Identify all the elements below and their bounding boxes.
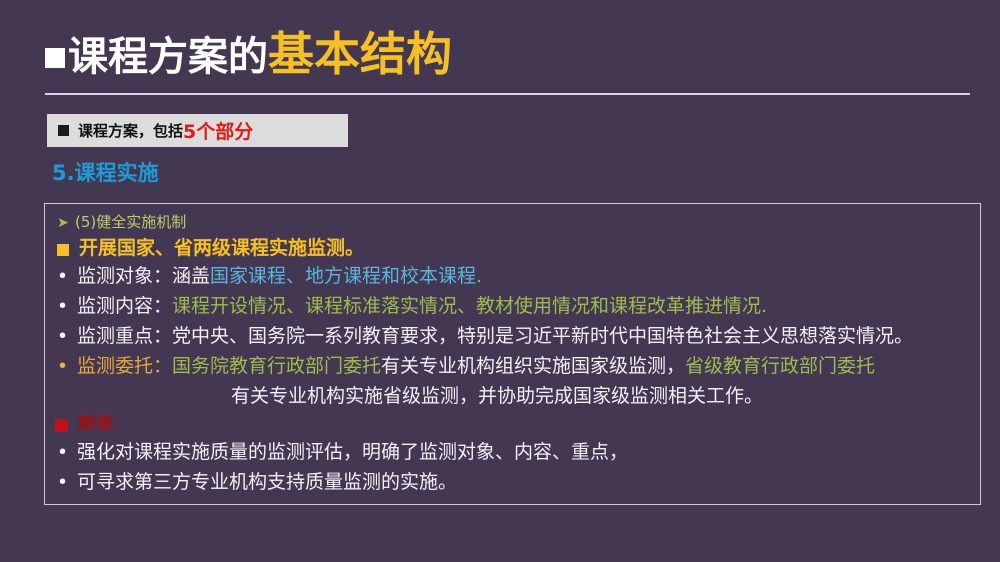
content-box: ➤ (5)健全实施机制 开展国家、省两级课程实施监测。 • 监测对象：涵盖 国家… bbox=[44, 203, 981, 505]
dot-bullet-icon: • bbox=[53, 437, 77, 467]
content-gold-heading: 开展国家、省两级课程实施监测。 bbox=[53, 235, 972, 261]
content-gold-heading-label: 开展国家、省两级课程实施监测。 bbox=[79, 235, 364, 261]
interpretation-title: 解读： bbox=[78, 411, 129, 437]
page-title: 课程方案的 基本结构 bbox=[45, 18, 452, 84]
bullet-value: 党中央、国务院一系列教育要求，特别是习近平新时代中国特色社会主义思想落实情况。 bbox=[172, 321, 913, 351]
entrust-label: 监测委托： bbox=[77, 351, 172, 381]
dot-bullet-icon: • bbox=[53, 321, 77, 351]
content-sub-heading-label: (5)健全实施机制 bbox=[75, 210, 186, 234]
title-bullet-square-icon bbox=[45, 48, 65, 68]
slide-canvas: 课程方案的 基本结构 课程方案，包括 5个部分 5.课程实施 ➤ (5)健全实施… bbox=[0, 0, 1000, 562]
list-item: • 可寻求第三方专业机构支持质量监测的实施。 bbox=[53, 467, 972, 497]
dot-bullet-gold-icon: • bbox=[53, 351, 77, 381]
bullet-label: 监测对象：涵盖 bbox=[77, 261, 210, 291]
section-banner: 课程方案，包括 5个部分 bbox=[47, 114, 348, 147]
bullet-label: 监测内容： bbox=[77, 291, 172, 321]
gold-square-icon bbox=[57, 244, 69, 256]
list-item: • 监测内容： 课程开设情况、课程标准落实情况、教材使用情况和课程改革推进情况. bbox=[53, 291, 972, 321]
dot-bullet-icon: • bbox=[53, 291, 77, 321]
banner-accent: 5个部分 bbox=[183, 117, 253, 144]
entrust-part1: 国务院教育行政部门委托 bbox=[172, 351, 381, 381]
arrow-right-icon: ➤ bbox=[53, 210, 75, 234]
entrust-continuation-row: 有关专业机构实施省级监测，并协助完成国家级监测相关工作。 bbox=[53, 381, 972, 411]
banner-label: 课程方案，包括 bbox=[78, 120, 183, 141]
entrust-part2: 有关专业机构组织实施国家级监测， bbox=[381, 351, 685, 381]
list-item: • 强化对课程实施质量的监测评估，明确了监测对象、内容、重点， bbox=[53, 437, 972, 467]
section-heading: 5.课程实施 bbox=[52, 157, 159, 187]
dot-bullet-icon: • bbox=[53, 467, 77, 497]
content-sub-heading: ➤ (5)健全实施机制 bbox=[53, 210, 972, 234]
page-title-accent: 基本结构 bbox=[268, 18, 452, 84]
bullet-value: 课程开设情况、课程标准落实情况、教材使用情况和课程改革推进情况. bbox=[172, 291, 767, 321]
interpretation-point: 强化对课程实施质量的监测评估，明确了监测对象、内容、重点， bbox=[77, 437, 628, 467]
entrust-part3: 省级教育行政部门委托 bbox=[685, 351, 875, 381]
bullet-label: 监测重点： bbox=[77, 321, 172, 351]
interpretation-point: 可寻求第三方专业机构支持质量监测的实施。 bbox=[77, 467, 457, 497]
list-item: • 监测对象：涵盖 国家课程、地方课程和校本课程. bbox=[53, 261, 972, 291]
interpretation-heading: 解读： bbox=[53, 411, 972, 437]
entrust-continuation: 有关专业机构实施省级监测，并协助完成国家级监测相关工作。 bbox=[231, 381, 763, 411]
banner-bullet-square-icon bbox=[58, 125, 69, 136]
list-item: • 监测重点： 党中央、国务院一系列教育要求，特别是习近平新时代中国特色社会主义… bbox=[53, 321, 972, 351]
dot-bullet-icon: • bbox=[53, 261, 77, 291]
page-title-main: 课程方案的 bbox=[68, 24, 268, 82]
title-divider bbox=[45, 93, 970, 95]
red-square-icon bbox=[55, 419, 68, 432]
list-item-entrust: • 监测委托： 国务院教育行政部门委托 有关专业机构组织实施国家级监测， 省级教… bbox=[53, 351, 972, 381]
bullet-value: 国家课程、地方课程和校本课程. bbox=[210, 261, 482, 291]
